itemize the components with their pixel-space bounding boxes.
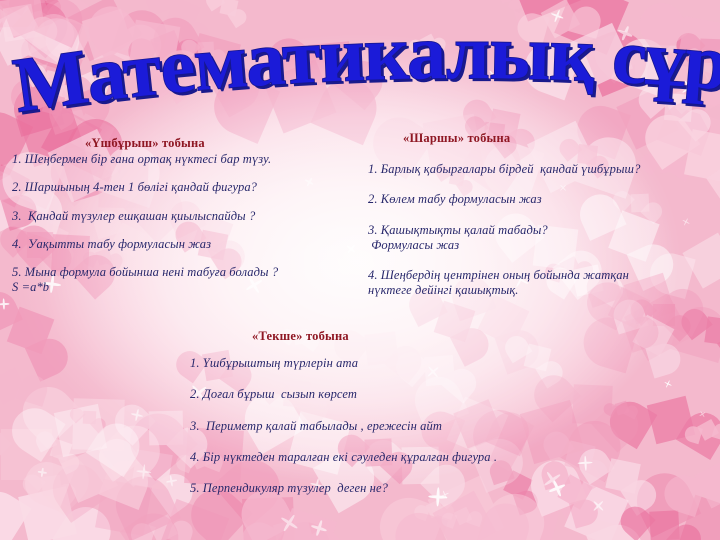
question-item: 1. Барлық қабырғалары бірдей қандай үшбұ… xyxy=(368,162,698,177)
question-list-ushburysh: 1. Шеңбермен бір ғана ортақ нүктесі бар … xyxy=(12,152,342,296)
question-item: 1. Үшбұрыштың түрлерін ата xyxy=(190,356,610,371)
question-item: 4. Шеңбердің центрінен оның бойында жатқ… xyxy=(368,268,698,299)
title-main-text: Математикалық сұрақтар xyxy=(0,0,720,129)
slide-title: Математикалық сұрақтар Математикалық сұр… xyxy=(0,0,720,150)
question-item: 5. Перпендикуляр түзулер деген не? xyxy=(190,481,610,496)
group-heading-ushburysh: «Үшбұрыш» тобына xyxy=(85,136,205,151)
question-list-tekshe: 1. Үшбұрыштың түрлерін ата2. Доғал бұрыш… xyxy=(190,356,610,496)
question-item: 4. Бір нүктеден таралған екі сәуледен құ… xyxy=(190,450,610,465)
question-item: 2. Шаршының 4-тен 1 бөлігі қандай фигура… xyxy=(12,180,342,195)
question-item: 3. Қандай түзулер ешқашан қиылыспайды ? xyxy=(12,209,342,224)
question-item: 3. Қашықтықты қалай табады? Формуласы жа… xyxy=(368,223,698,254)
title-wordart: Математикалық сұрақтар Математикалық сұр… xyxy=(0,0,720,150)
question-item: 3. Периметр қалай табылады , ережесін ай… xyxy=(190,419,610,434)
group-heading-sharshy: «Шаршы» тобына xyxy=(403,131,510,146)
slide-canvas: Математикалық сұрақтар Математикалық сұр… xyxy=(0,0,720,540)
question-item: 4. Уақытты табу формуласын жаз xyxy=(12,237,342,252)
question-list-sharshy: 1. Барлық қабырғалары бірдей қандай үшбұ… xyxy=(368,162,698,299)
group-heading-tekshe: «Текше» тобына xyxy=(252,329,349,344)
question-item: 5. Мына формула бойынша нені табуға бола… xyxy=(12,265,342,296)
question-item: 2. Доғал бұрыш сызып көрсет xyxy=(190,387,610,402)
question-item: 1. Шеңбермен бір ғана ортақ нүктесі бар … xyxy=(12,152,342,167)
question-item: 2. Көлем табу формуласын жаз xyxy=(368,192,698,207)
